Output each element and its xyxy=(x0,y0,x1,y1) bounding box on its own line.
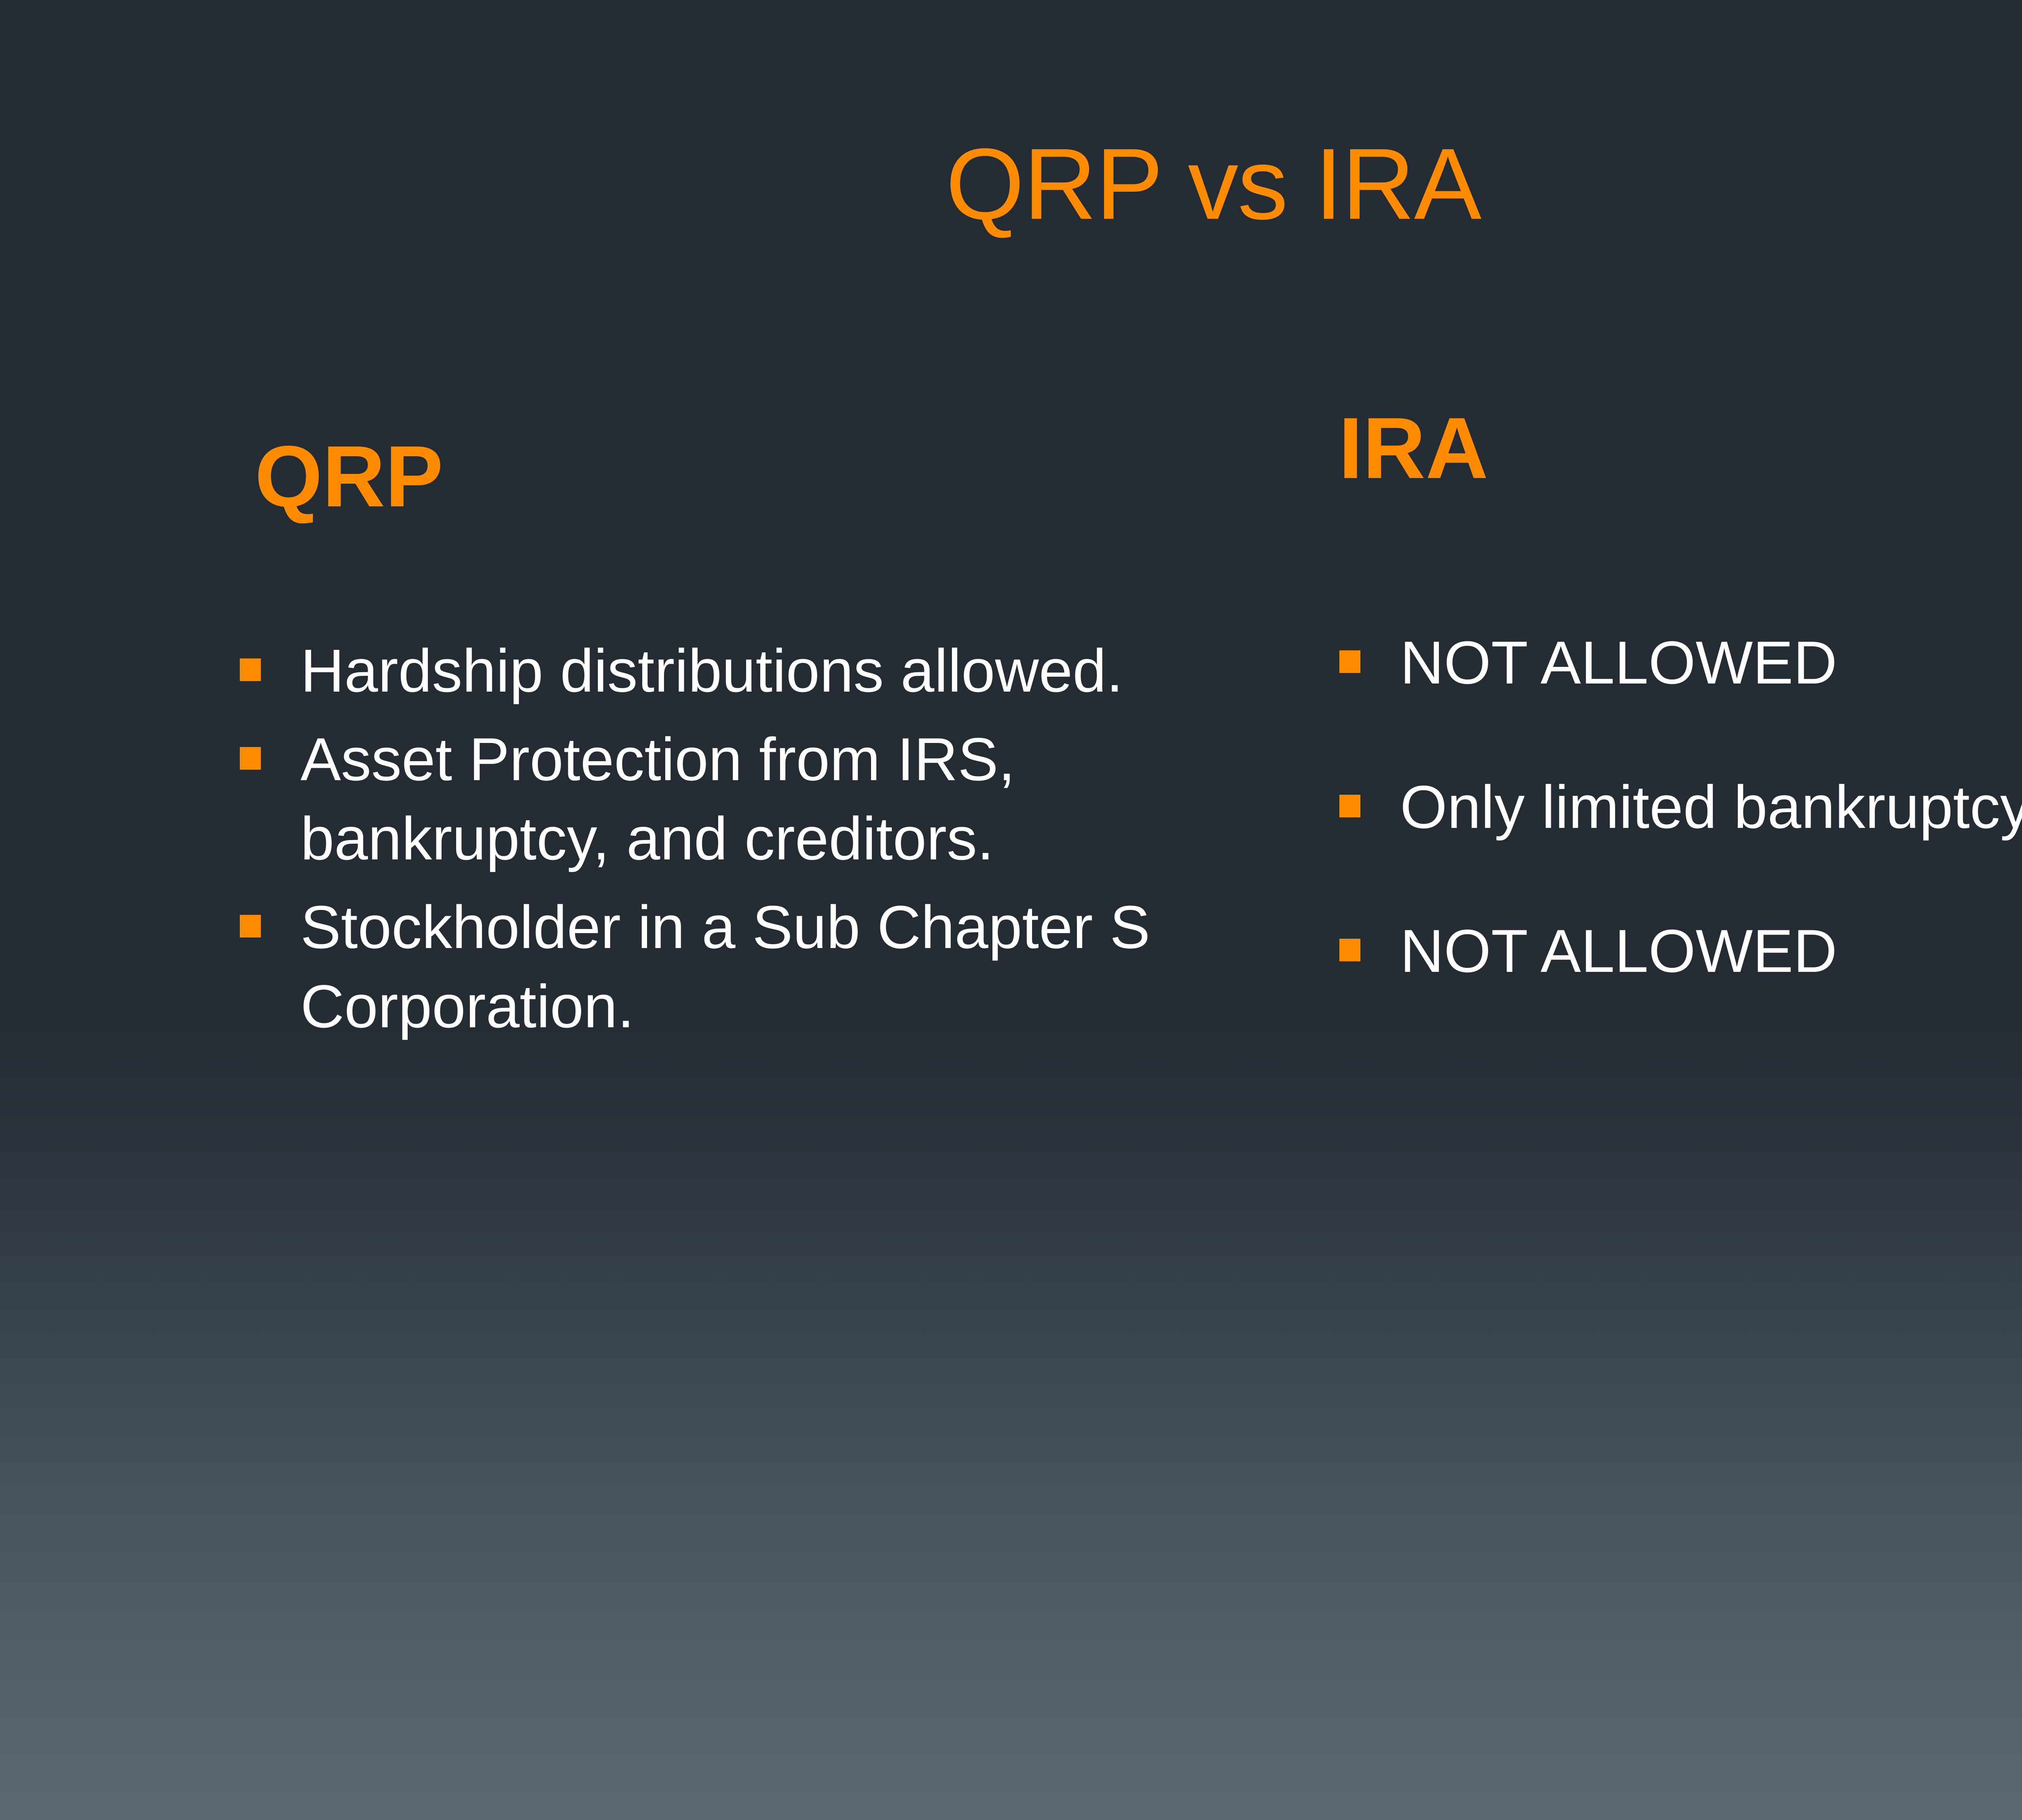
column-heading-ira: IRA xyxy=(1339,404,1488,491)
square-bullet-icon xyxy=(1339,939,1360,961)
list-item: Hardship distributions allowed. xyxy=(240,631,1229,711)
list-item-label: NOT ALLOWED xyxy=(1400,623,2022,703)
square-bullet-icon xyxy=(1339,650,1360,673)
presentation-slide: QRP vs IRA QRP Hardship distributions al… xyxy=(0,0,2022,1820)
list-item: Asset Protection from IRS, bankruptcy, a… xyxy=(240,720,1229,878)
square-bullet-icon xyxy=(240,915,261,938)
list-item-label: NOT ALLOWED xyxy=(1400,911,2022,991)
list-item: Only limited bankruptcy protection xyxy=(1339,767,2022,847)
square-bullet-icon xyxy=(240,747,261,770)
list-item: NOT ALLOWED xyxy=(1339,911,2022,991)
content-columns: QRP Hardship distributions allowed. Asse… xyxy=(0,0,2022,1820)
list-item-label: Only limited bankruptcy protection xyxy=(1400,767,2022,847)
bullet-list-ira: NOT ALLOWED Only limited bankruptcy prot… xyxy=(1326,623,2022,1056)
square-bullet-icon xyxy=(240,658,261,681)
list-item: Stockholder in a Sub Chapter S Corporati… xyxy=(240,887,1229,1046)
list-item-label: Asset Protection from IRS, bankruptcy, a… xyxy=(300,720,1229,878)
list-item-label: Hardship distributions allowed. xyxy=(300,631,1229,711)
column-heading-qrp: QRP xyxy=(255,433,443,520)
list-item-label: Stockholder in a Sub Chapter S Corporati… xyxy=(300,887,1229,1046)
bullet-list-qrp: Hardship distributions allowed. Asset Pr… xyxy=(226,631,1229,1055)
list-item: NOT ALLOWED xyxy=(1339,623,2022,703)
square-bullet-icon xyxy=(1339,795,1360,817)
